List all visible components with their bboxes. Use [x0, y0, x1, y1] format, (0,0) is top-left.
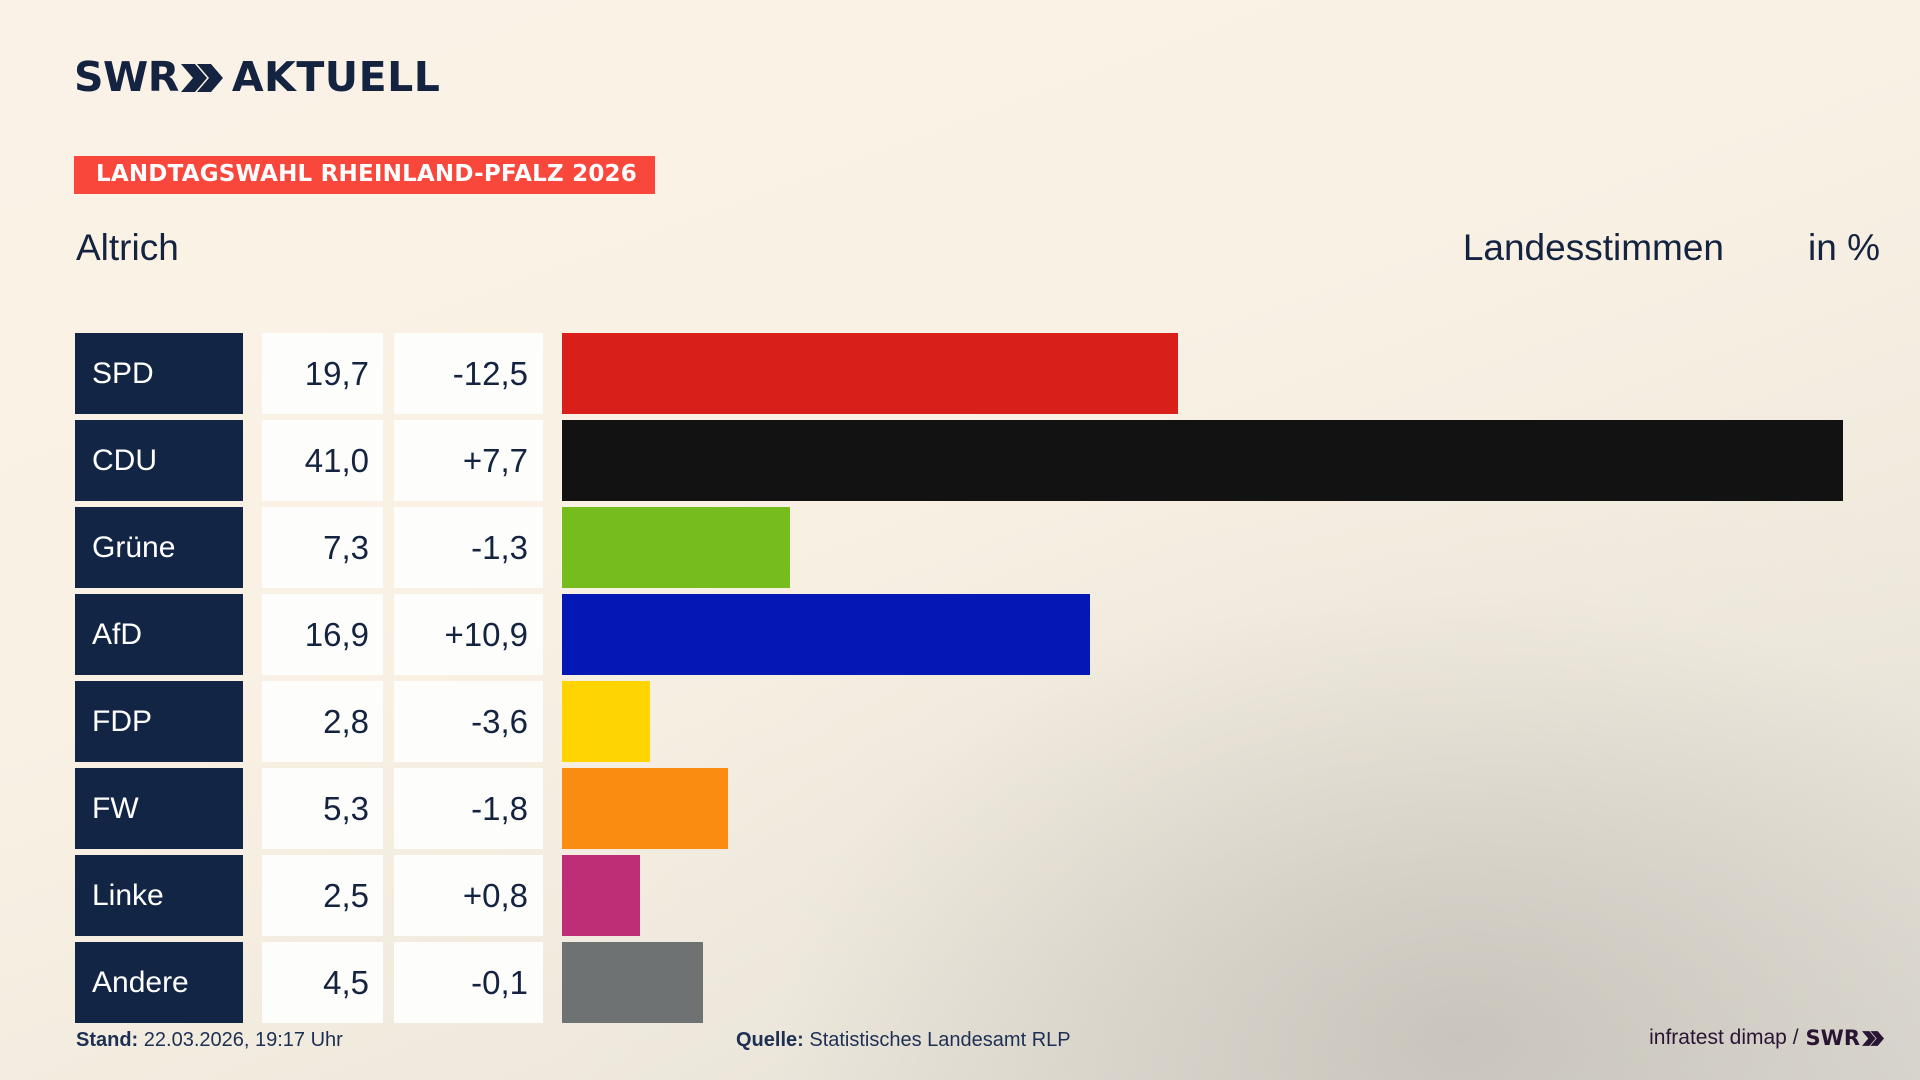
party-share-value: 2,8: [262, 681, 383, 762]
swr-aktuell-logo: SWR AKTUELL: [74, 52, 440, 102]
party-change-value: +10,9: [394, 594, 543, 675]
bar-track: [562, 681, 1920, 762]
party-label-fdp: FDP: [75, 681, 243, 762]
bar-track: [562, 942, 1920, 1023]
chart-row: AfD16,9+10,9: [0, 591, 1920, 678]
chart-row: CDU41,0+7,7: [0, 417, 1920, 504]
bar-track: [562, 594, 1920, 675]
election-banner: LANDTAGSWAHL RHEINLAND-PFALZ 2026: [74, 156, 655, 194]
footer-source-value: Statistisches Landesamt RLP: [809, 1029, 1070, 1051]
bar-spd: [562, 333, 1178, 414]
bar-linke: [562, 855, 640, 936]
swr-credit-mark: SWR: [1806, 1026, 1884, 1050]
bar-track: [562, 768, 1920, 849]
election-result-graphic: SWR AKTUELL LANDTAGSWAHL RHEINLAND-PFALZ…: [0, 0, 1920, 1080]
party-label-fw: FW: [75, 768, 243, 849]
bar-andere: [562, 942, 703, 1023]
party-label-linke: Linke: [75, 855, 243, 936]
bar-track: [562, 855, 1920, 936]
party-label-grüne: Grüne: [75, 507, 243, 588]
bar-track: [562, 420, 1920, 501]
party-change-value: -0,1: [394, 942, 543, 1023]
bar-fdp: [562, 681, 650, 762]
aktuell-wordmark: AKTUELL: [232, 57, 441, 98]
bar-fw: [562, 768, 728, 849]
party-change-value: +7,7: [394, 420, 543, 501]
party-label-spd: SPD: [75, 333, 243, 414]
party-change-value: -1,3: [394, 507, 543, 588]
vote-type-label: Landesstimmen: [1463, 218, 1724, 278]
bar-grüne: [562, 507, 790, 588]
party-label-cdu: CDU: [75, 420, 243, 501]
party-share-value: 7,3: [262, 507, 383, 588]
results-bar-chart: SPD19,7-12,5CDU41,0+7,7Grüne7,3-1,3AfD16…: [0, 330, 1920, 1026]
bar-track: [562, 333, 1920, 414]
footer-source-label: Quelle:: [736, 1029, 804, 1051]
footer: Stand: 22.03.2026, 19:17 Uhr Quelle: Sta…: [0, 1026, 1920, 1066]
footer-source: Quelle: Statistisches Landesamt RLP: [736, 1026, 1071, 1054]
party-share-value: 4,5: [262, 942, 383, 1023]
bar-track: [562, 507, 1920, 588]
party-change-value: +0,8: [394, 855, 543, 936]
bar-cdu: [562, 420, 1843, 501]
bar-afd: [562, 594, 1090, 675]
subtitle-row: Altrich Landesstimmen in %: [0, 218, 1920, 278]
double-chevron-right-icon: [1860, 1030, 1884, 1047]
party-change-value: -12,5: [394, 333, 543, 414]
footer-credit-text: infratest dimap /: [1649, 1026, 1798, 1050]
party-share-value: 19,7: [262, 333, 383, 414]
swr-wordmark: SWR: [74, 57, 179, 98]
swr-credit-wordmark: SWR: [1806, 1026, 1860, 1050]
party-share-value: 5,3: [262, 768, 383, 849]
double-chevron-right-icon: [181, 62, 223, 94]
party-share-value: 16,9: [262, 594, 383, 675]
footer-credit: infratest dimap / SWR: [1649, 1026, 1884, 1050]
chart-row: FW5,3-1,8: [0, 765, 1920, 852]
party-share-value: 2,5: [262, 855, 383, 936]
chart-row: SPD19,7-12,5: [0, 330, 1920, 417]
footer-stand-label: Stand:: [76, 1029, 138, 1051]
footer-timestamp: Stand: 22.03.2026, 19:17 Uhr: [76, 1026, 343, 1054]
chart-row: Andere4,5-0,1: [0, 939, 1920, 1026]
region-name: Altrich: [76, 218, 179, 278]
chart-row: Linke2,5+0,8: [0, 852, 1920, 939]
party-share-value: 41,0: [262, 420, 383, 501]
footer-stand-value: 22.03.2026, 19:17 Uhr: [144, 1029, 343, 1051]
party-change-value: -1,8: [394, 768, 543, 849]
chart-row: Grüne7,3-1,3: [0, 504, 1920, 591]
party-label-afd: AfD: [75, 594, 243, 675]
unit-label: in %: [1808, 218, 1880, 278]
chart-row: FDP2,8-3,6: [0, 678, 1920, 765]
party-change-value: -3,6: [394, 681, 543, 762]
party-label-andere: Andere: [75, 942, 243, 1023]
